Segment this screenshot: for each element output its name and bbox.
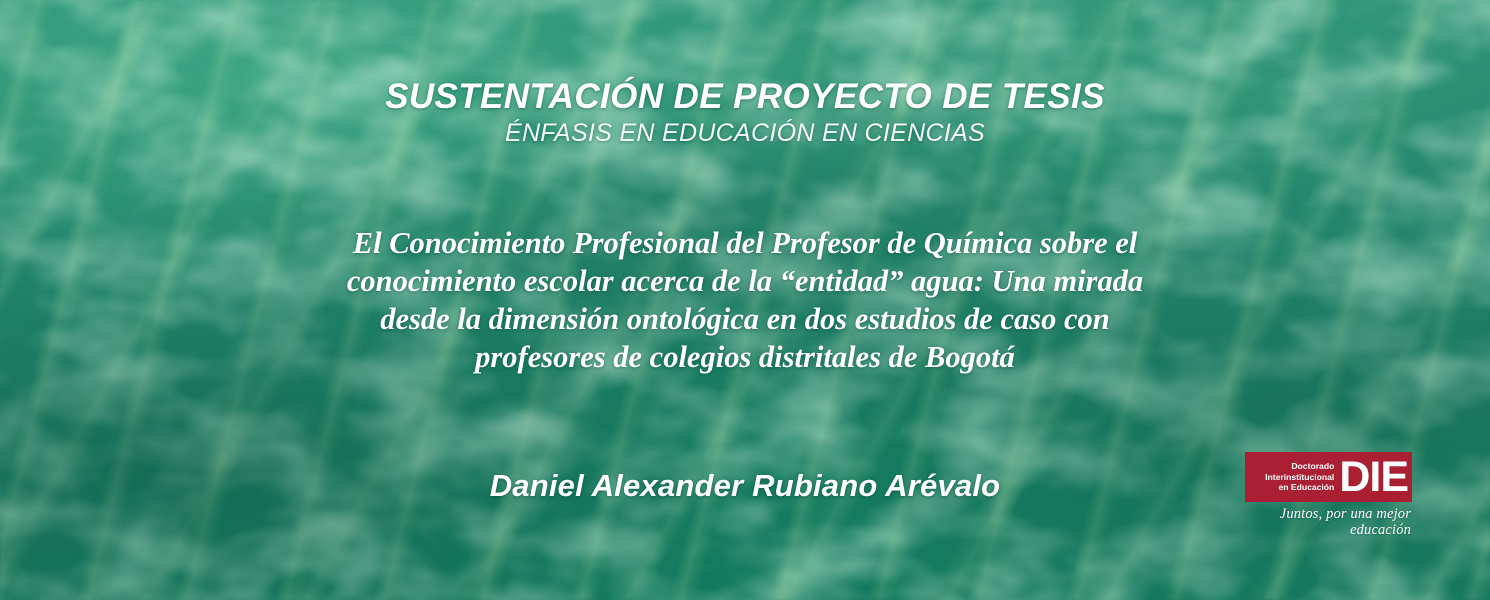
presentation-slide: SUSTENTACIÓN DE PROYECTO DE TESIS ÉNFASI…: [0, 0, 1490, 600]
die-logo-institution-text: Doctorado Interinstitucional en Educació…: [1265, 461, 1339, 492]
thesis-title-line-3: desde la dimensión ontológica en dos est…: [250, 300, 1240, 338]
die-logo-badge: Doctorado Interinstitucional en Educació…: [1245, 452, 1412, 502]
die-logo-tagline: Juntos, por una mejor educación: [1245, 506, 1412, 538]
die-logo-acronym: DIE: [1339, 455, 1412, 499]
thesis-title-line-1: El Conocimiento Profesional del Profesor…: [250, 224, 1240, 262]
thesis-title-line-2: conocimiento escolar acerca de la “entid…: [250, 262, 1240, 300]
thesis-title-line-4: profesores de colegios distritales de Bo…: [250, 338, 1240, 376]
thesis-title: El Conocimiento Profesional del Profesor…: [250, 224, 1240, 376]
die-logo-line-2: Interinstitucional: [1265, 472, 1334, 482]
slide-main-title: SUSTENTACIÓN DE PROYECTO DE TESIS: [0, 78, 1490, 116]
die-logo: Doctorado Interinstitucional en Educació…: [1245, 452, 1412, 538]
slide-sub-title: ÉNFASIS EN EDUCACIÓN EN CIENCIAS: [0, 119, 1490, 147]
die-logo-line-1: Doctorado: [1265, 461, 1334, 471]
slide-content: SUSTENTACIÓN DE PROYECTO DE TESIS ÉNFASI…: [0, 0, 1490, 600]
die-logo-line-3: en Educación: [1265, 482, 1334, 492]
heading-block: SUSTENTACIÓN DE PROYECTO DE TESIS ÉNFASI…: [0, 78, 1490, 147]
